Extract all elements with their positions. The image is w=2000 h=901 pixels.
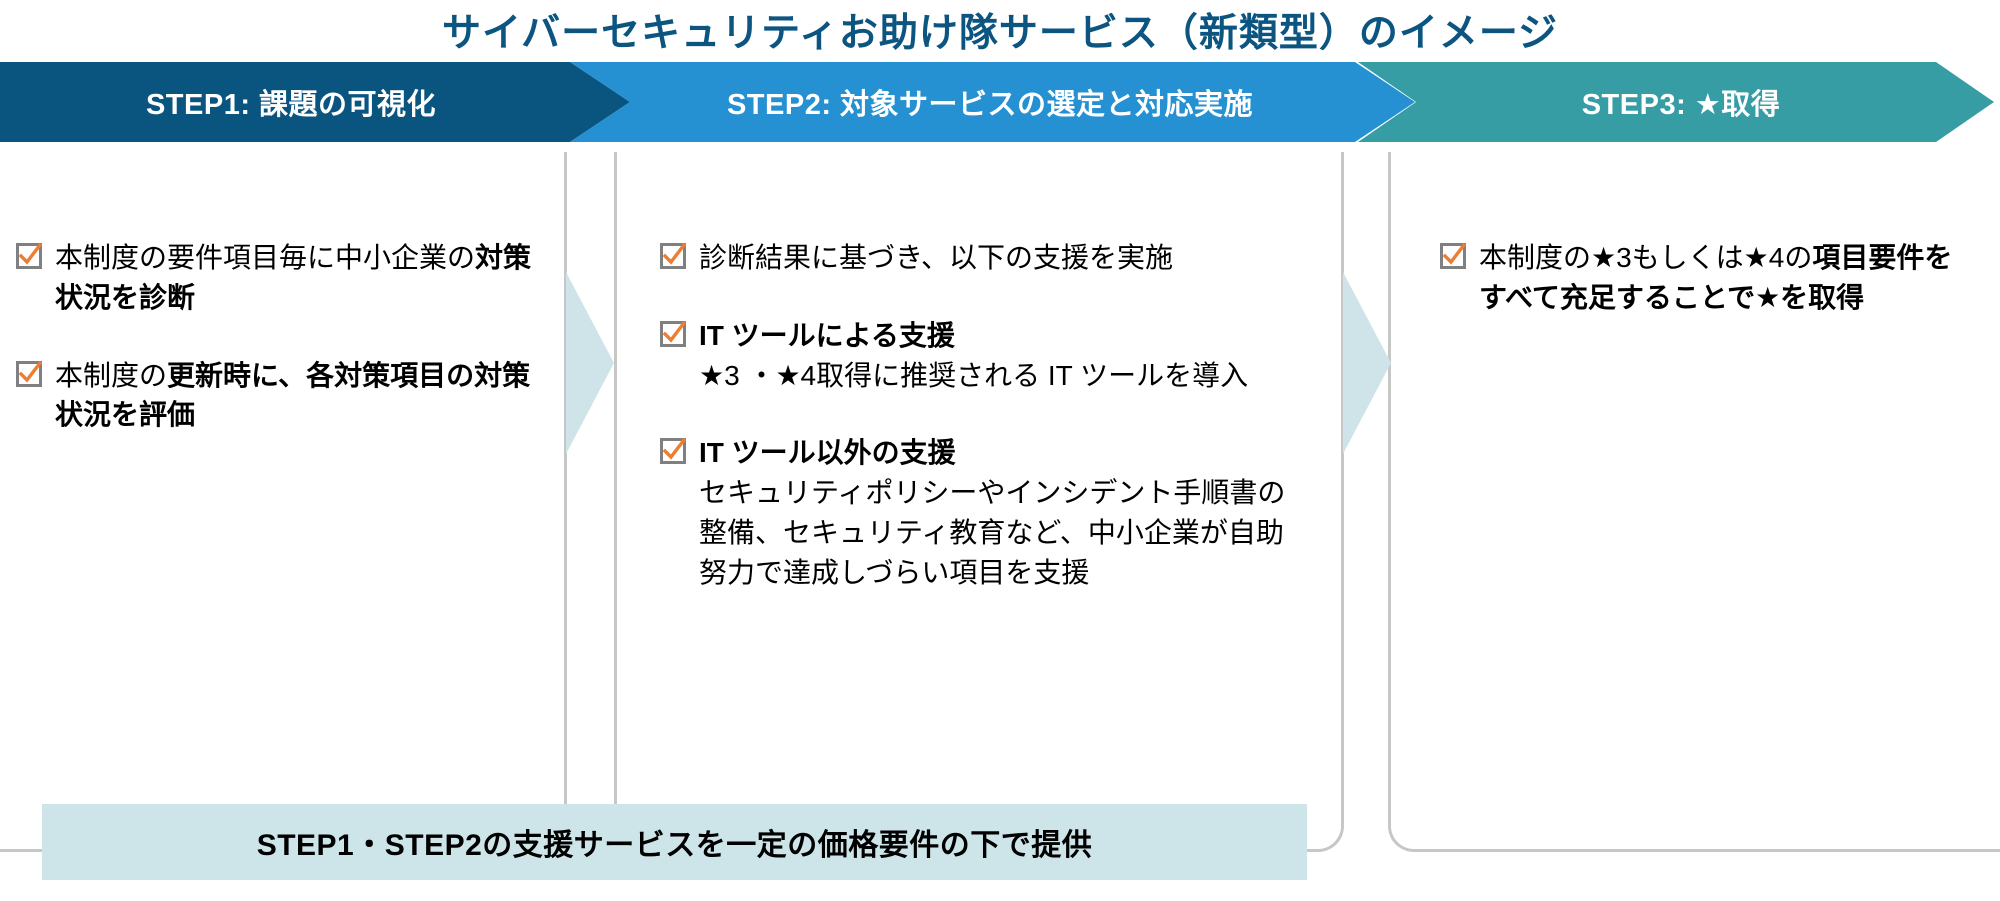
list-item: 本制度の★3もしくは★4の項目要件をすべて充足することで★を取得 [1440,238,1960,318]
step1-bullet-list: 本制度の要件項目毎に中小企業の対策状況を診断 本制度の更新時に、各対策項目の対策… [16,238,536,435]
flow-arrow-step1-to-step2 [566,272,614,454]
checkbox-checked-icon [660,243,686,269]
list-item: 本制度の更新時に、各対策項目の対策状況を評価 [16,356,536,436]
price-requirement-banner: STEP1・STEP2の支援サービスを一定の価格要件の下で提供 [42,804,1307,880]
list-item-text: 診断結果に基づき、以下の支援を実施 [699,238,1173,278]
step2-bullet-list: 診断結果に基づき、以下の支援を実施 IT ツールによる支援★3 ・★4取得に推奨… [660,238,1300,592]
price-requirement-banner-label: STEP1・STEP2の支援サービスを一定の価格要件の下で提供 [257,820,1093,864]
step-header-label-step2: STEP2: 対象サービスの選定と対応実施 [727,81,1253,123]
step-header-band: STEP1: 課題の可視化 STEP2: 対象サービスの選定と対応実施 STEP… [0,62,2000,142]
flow-arrow-step2-to-step3 [1343,272,1391,454]
step-header-label-step1: STEP1: 課題の可視化 [146,81,436,123]
list-item: 診断結果に基づき、以下の支援を実施 [660,238,1300,278]
checkbox-checked-icon [1440,243,1466,269]
list-item-text: IT ツールによる支援★3 ・★4取得に推奨される IT ツールを導入 [699,316,1248,396]
step-header-label-step3: STEP3: ★取得 [1582,81,1781,123]
checkbox-checked-icon [660,438,686,464]
list-item-text: IT ツール以外の支援セキュリティポリシーやインシデント手順書の整備、セキュリテ… [699,433,1300,592]
checkbox-checked-icon [16,243,42,269]
step-header-chevron-step1[interactable]: STEP1: 課題の可視化 [0,62,630,142]
checkbox-checked-icon [660,321,686,347]
step-header-chevron-step3[interactable]: STEP3: ★取得 [1358,62,2000,142]
list-item-text: 本制度の要件項目毎に中小企業の対策状況を診断 [55,238,536,318]
step-header-chevron-step2[interactable]: STEP2: 対象サービスの選定と対応実施 [570,62,1420,142]
list-item: 本制度の要件項目毎に中小企業の対策状況を診断 [16,238,536,318]
list-item: IT ツール以外の支援セキュリティポリシーやインシデント手順書の整備、セキュリテ… [660,433,1300,592]
list-item: IT ツールによる支援★3 ・★4取得に推奨される IT ツールを導入 [660,316,1300,396]
page-title: サイバーセキュリティお助け隊サービス（新類型）のイメージ [0,2,2000,58]
step3-bullet-list: 本制度の★3もしくは★4の項目要件をすべて充足することで★を取得 [1440,238,1960,318]
checkbox-checked-icon [16,361,42,387]
list-item-text: 本制度の★3もしくは★4の項目要件をすべて充足することで★を取得 [1479,238,1960,318]
list-item-text: 本制度の更新時に、各対策項目の対策状況を評価 [55,356,536,436]
